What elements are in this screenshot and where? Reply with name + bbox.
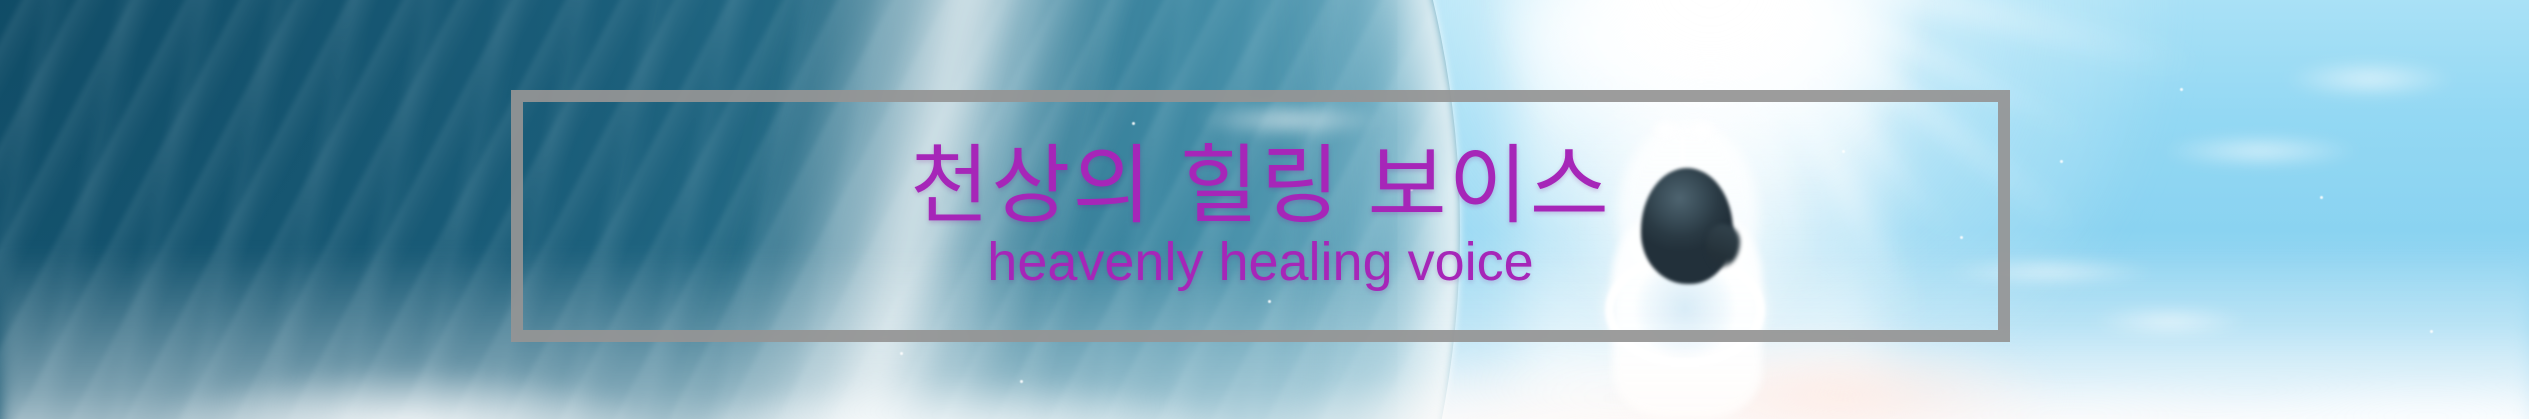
healing-voice-banner: 천상의 힐링 보이스 heavenly healing voice: [0, 0, 2529, 419]
cloud-wisp: [2120, 128, 2400, 174]
cloud-wisp: [2250, 52, 2490, 106]
decorative-frame: [511, 90, 2010, 342]
